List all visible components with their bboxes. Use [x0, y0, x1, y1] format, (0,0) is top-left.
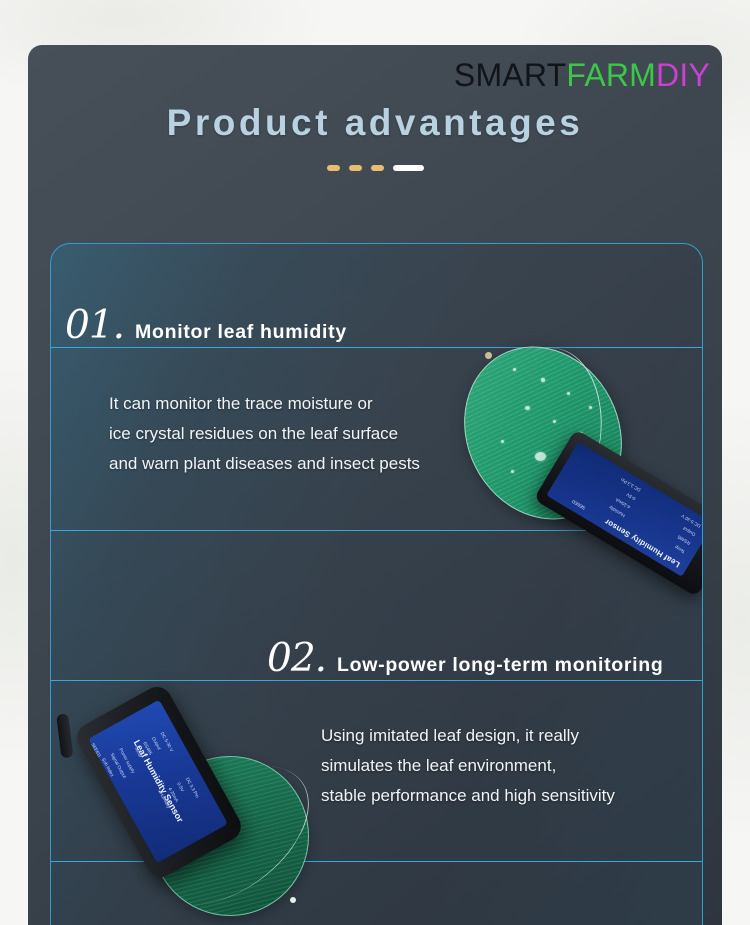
- sensor-brand-mark: SEEED: [90, 742, 102, 757]
- sensor-label: Leaf Humidity Sensor Temp RS485 Output D…: [546, 442, 703, 577]
- divider-dash-long: [393, 165, 424, 171]
- title-divider-dashes: [28, 165, 722, 171]
- section-01-heading: Monitor leaf humidity: [135, 321, 347, 344]
- section-02-body: Using imitated leaf design, it really si…: [321, 721, 701, 811]
- divider-dash: [327, 165, 340, 171]
- sensor-option: Temp: [674, 544, 686, 554]
- brand-logo-smart: SMART: [454, 57, 566, 93]
- advantages-card: 01. Monitor leaf humidity It can monitor…: [50, 243, 703, 925]
- section-01-number: 01.: [65, 306, 124, 345]
- leaf-node-icon: [290, 897, 296, 903]
- sensor-brand-mark: SEEED: [571, 499, 586, 511]
- brand-logo: SMARTFARMDIY: [454, 57, 710, 94]
- divider-dash: [371, 165, 384, 171]
- sensor-label-title: Leaf Humidity Sensor: [603, 517, 682, 569]
- sensor-option: RS485: [677, 534, 692, 546]
- divider-dash: [349, 165, 362, 171]
- sensor-label: Leaf Humidity Sensor Sub Index Signal Ou…: [88, 700, 228, 863]
- sensor-option: 0-5V: [625, 492, 636, 501]
- sensor-option: DC 3.3 Pin: [185, 777, 200, 799]
- product-photo-sensor-with-leaf: Leaf Humidity Sensor Temp RS485 Output D…: [449, 344, 703, 584]
- brand-logo-farm: FARM: [566, 57, 656, 93]
- section-02-heading: Low-power long-term monitoring: [337, 654, 663, 677]
- page-title: Product advantages: [28, 102, 722, 144]
- product-advantages-panel: SMARTFARMDIY Product advantages 01. Moni…: [28, 45, 722, 925]
- product-photo-sensor-device: Leaf Humidity Sensor Sub Index Signal Ou…: [93, 676, 343, 921]
- sensor-cable: [56, 713, 73, 758]
- sensor-option: DC 5-30 V: [160, 731, 175, 752]
- sensor-option: Output: [682, 526, 696, 537]
- sensor-option: Output: [151, 736, 162, 750]
- section-02-number: 02.: [267, 639, 326, 678]
- sensor-option: DC 3.3 Pin: [620, 477, 642, 493]
- brand-logo-diy: DIY: [656, 57, 710, 93]
- section-01-body: It can monitor the trace moisture or ice…: [109, 389, 479, 479]
- section-01-header: 01. Monitor leaf humidity: [65, 306, 347, 345]
- section-02-header: 02. Low-power long-term monitoring: [267, 639, 664, 678]
- sensor-option: 0-5V: [176, 782, 185, 793]
